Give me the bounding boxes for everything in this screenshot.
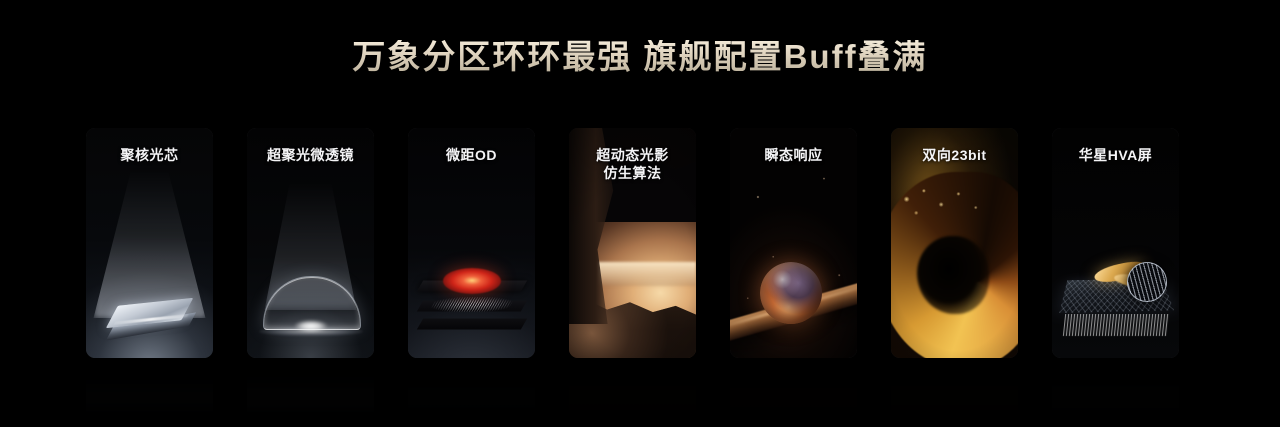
feature-card-transient-response[interactable]: 瞬态响应 — [730, 128, 857, 358]
feature-card-hva-panel[interactable]: 华星HVA屏 — [1052, 128, 1179, 358]
card-reflection — [891, 360, 1018, 416]
feature-card-bidirectional-23bit[interactable]: 双向23bit — [891, 128, 1018, 358]
card-reflection — [1052, 360, 1179, 416]
page-title: 万象分区环环最强 旗舰配置Buff叠满 — [0, 40, 1280, 73]
card-reflection — [86, 360, 213, 416]
feature-card-label: 超动态光影 仿生算法 — [569, 146, 696, 183]
feature-card-label: 华星HVA屏 — [1052, 146, 1179, 164]
magnifier-detail-icon — [1127, 262, 1167, 302]
feature-card-label: 微距OD — [408, 146, 535, 164]
card-reflection — [569, 360, 696, 416]
feature-card-label: 瞬态响应 — [730, 146, 857, 164]
feature-card-list: 聚核光芯 超聚光微透镜 微距OD — [86, 128, 1195, 358]
card-reflection — [408, 360, 535, 416]
feature-card-micro-od[interactable]: 微距OD — [408, 128, 535, 358]
feature-card-label: 超聚光微透镜 — [247, 146, 374, 164]
feature-card-label: 聚核光芯 — [86, 146, 213, 164]
card-reflection — [247, 360, 374, 416]
feature-card-led-chip[interactable]: 聚核光芯 — [86, 128, 213, 358]
card-reflection — [730, 360, 857, 416]
feature-card-label: 双向23bit — [891, 146, 1018, 164]
feature-card-microlens[interactable]: 超聚光微透镜 — [247, 128, 374, 358]
promo-slide: 万象分区环环最强 旗舰配置Buff叠满 聚核光芯 — [0, 0, 1280, 427]
card-reflections — [86, 360, 1195, 416]
feature-card-dynamic-light-algorithm[interactable]: 超动态光影 仿生算法 — [569, 128, 696, 358]
